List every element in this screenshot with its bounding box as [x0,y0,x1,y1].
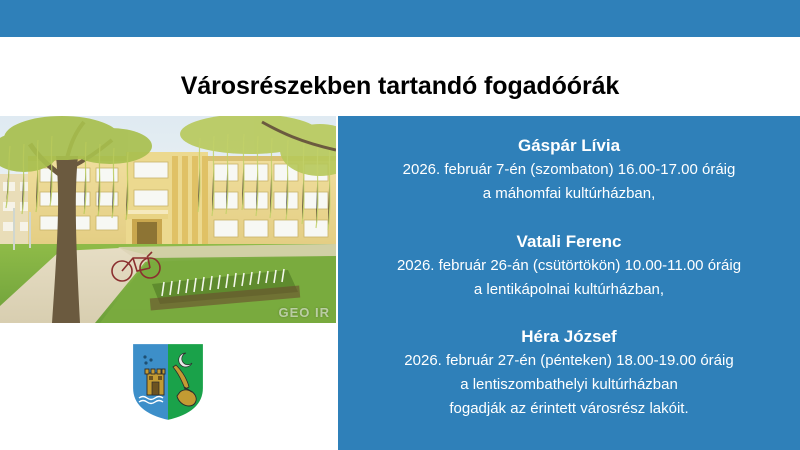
entry-name: Vatali Ferenc [338,230,800,254]
entry-name: Héra József [338,325,800,349]
entry-closing-note: fogadják az érintett városrész lakóit. [338,397,800,421]
entry-name: Gáspár Lívia [338,134,800,158]
schedule-panel: Gáspár Lívia 2026. február 7-én (szombat… [338,116,800,450]
schedule-entry: Gáspár Lívia 2026. február 7-én (szombat… [338,134,800,206]
building-photo: GEO IR [0,116,336,323]
entry-venue: a lentikápolnai kultúrházban, [338,278,800,302]
page-title: Városrészekben tartandó fogadóórák [0,72,800,101]
building-photo-illustration [0,116,336,323]
schedule-entry: Héra József 2026. február 27-én (pénteke… [338,325,800,421]
entry-datetime: 2026. február 27-én (pénteken) 18.00-19.… [338,349,800,373]
slide-canvas: Városrészekben tartandó fogadóórák [0,0,800,450]
top-accent-bar [0,0,800,37]
entry-datetime: 2026. február 7-én (szombaton) 16.00-17.… [338,158,800,182]
entry-datetime: 2026. február 26-án (csütörtökön) 10.00-… [338,254,800,278]
coat-of-arms-illustration [128,340,208,424]
entry-venue: a máhomfai kultúrházban, [338,182,800,206]
entry-venue: a lentiszombathelyi kultúrházban [338,373,800,397]
schedule-entry: Vatali Ferenc 2026. február 26-án (csütö… [338,230,800,302]
city-coat-of-arms [128,340,208,424]
